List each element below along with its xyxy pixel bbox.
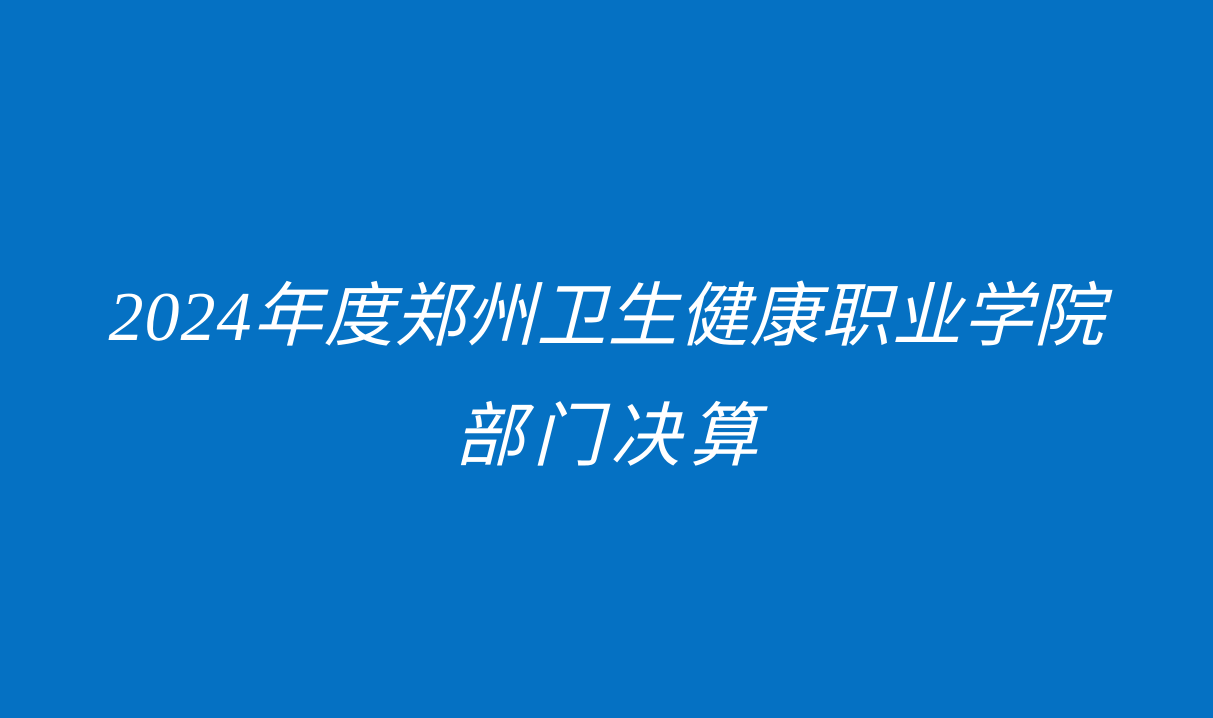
- title-block: 2024年度郑州卫生健康职业学院 部门决算: [0, 258, 1213, 498]
- title-line-1: 2024年度郑州卫生健康职业学院: [0, 258, 1213, 378]
- title-slide: 2024年度郑州卫生健康职业学院 部门决算: [0, 0, 1213, 718]
- title-line-2: 部门决算: [0, 378, 1213, 498]
